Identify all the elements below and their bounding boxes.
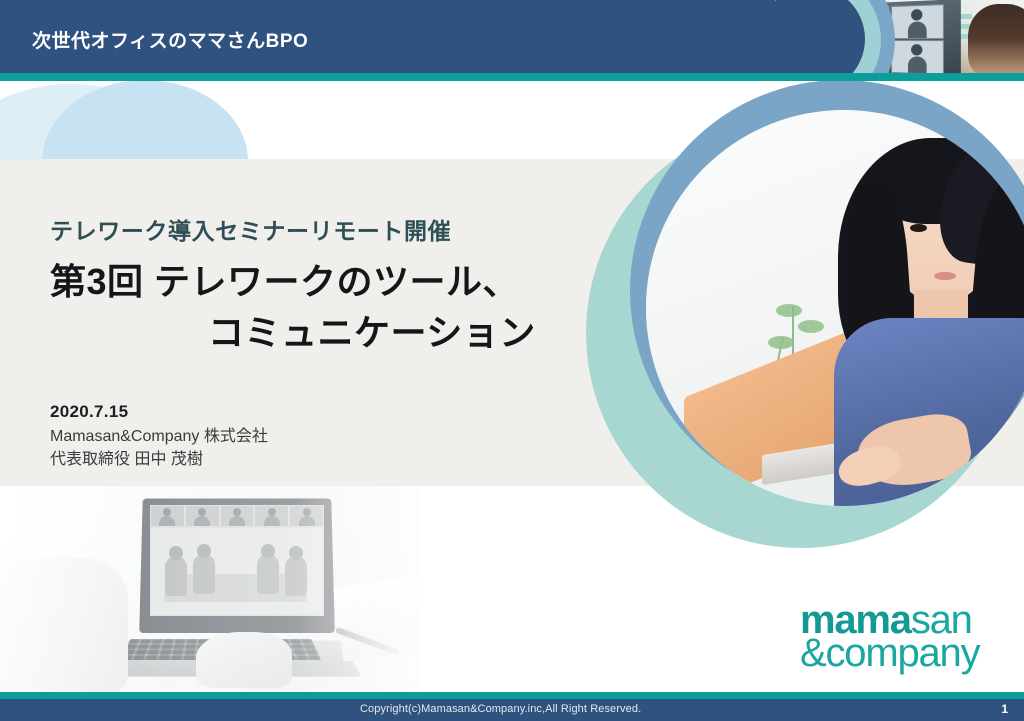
photo-fade-overlay xyxy=(0,486,420,693)
footer-copyright: Copyright(c)Mamasan&Company.inc,All Righ… xyxy=(360,703,641,715)
header-arc-navy xyxy=(775,0,865,73)
page-number: 1 xyxy=(1001,702,1008,716)
logo-company-text: company xyxy=(825,631,979,675)
woman-figure xyxy=(822,122,1024,506)
remote-meeting-photo xyxy=(0,486,420,693)
call-tile xyxy=(891,40,944,73)
logo-ampersand: & xyxy=(800,631,825,675)
hero-photo-group xyxy=(586,80,1024,550)
mamasan-company-logo: mamasan &company xyxy=(800,600,1000,678)
logo-row-two: &company xyxy=(800,633,1000,673)
presenter-name: 代表取締役 田中 茂樹 xyxy=(50,449,268,472)
slide-title-line2: コミュニケーション xyxy=(50,307,536,358)
slide-title-line1: 第3回 テレワークのツール、 xyxy=(50,261,519,302)
eye xyxy=(910,224,927,232)
presentation-date: 2020.7.15 xyxy=(50,402,268,422)
company-name: Mamasan&Company 株式会社 xyxy=(50,426,268,449)
header-conference-photo xyxy=(775,0,1024,73)
presentation-slide: 次世代オフィスのママさんBPO テレワーク導入セミナーリモート開催 第3回 テレ… xyxy=(0,0,1024,721)
woman-laptop-photo xyxy=(646,110,1024,506)
person-back-view xyxy=(968,4,1024,73)
header-title: 次世代オフィスのママさんBPO xyxy=(32,26,308,53)
seminar-subtitle: テレワーク導入セミナーリモート開催 xyxy=(50,212,451,246)
presenter-meta: 2020.7.15 Mamasan&Company 株式会社 代表取締役 田中 … xyxy=(50,402,268,471)
slide-title: 第3回 テレワークのツール、 コミュニケーション xyxy=(50,256,536,358)
call-tile xyxy=(891,4,944,39)
lips xyxy=(934,272,956,280)
footer-accent-bar xyxy=(0,692,1024,699)
header-accent-bar xyxy=(0,73,1024,81)
